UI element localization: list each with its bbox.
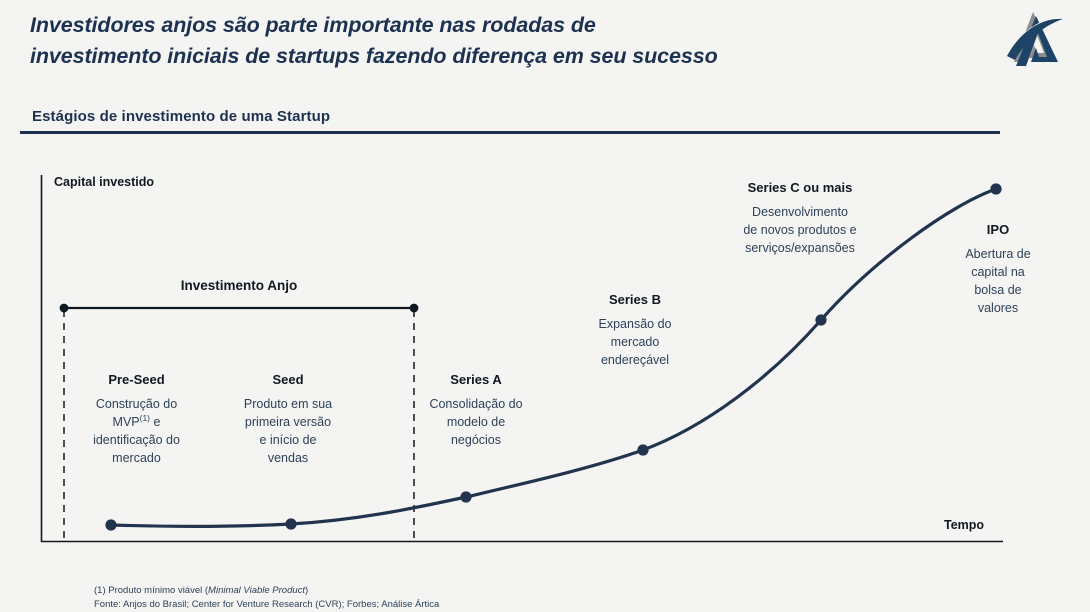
- stage-series-a-description: Consolidação do modelo de negócios: [402, 395, 550, 449]
- point-series-c: [815, 314, 826, 325]
- artica-logo: [1002, 6, 1066, 74]
- section-header: Estágios de investimento de uma Startup: [20, 108, 1000, 134]
- stage-pre-seed-title: Pre-Seed: [64, 372, 209, 387]
- page-title: Investidores anjos são parte importante …: [30, 10, 960, 71]
- footnote-marker: (1): [140, 413, 150, 423]
- stage-series-a-title: Series A: [402, 372, 550, 387]
- angel-investment-label: Investimento Anjo: [64, 278, 414, 293]
- point-series-a: [460, 491, 471, 502]
- stage-pre-seed-description: Construção do MVP(1) e identificação do …: [64, 395, 209, 468]
- stage-ipo-description: Abertura de capital na bolsa de valores: [938, 245, 1058, 318]
- x-axis-label: Tempo: [944, 518, 984, 534]
- section-divider: [20, 131, 1000, 134]
- stage-pre-seed: Pre-Seed Construção do MVP(1) e identifi…: [64, 372, 209, 468]
- stage-seed-title: Seed: [218, 372, 358, 387]
- point-series-b: [637, 444, 648, 455]
- point-seed: [285, 518, 296, 529]
- stage-series-b: Series B Expansão do mercado endereçável: [560, 292, 710, 369]
- footnote-mvp-suffix: ): [305, 585, 308, 596]
- stage-seed: Seed Produto em sua primeira versão e in…: [218, 372, 358, 468]
- y-axis-label: Capital investido: [54, 175, 154, 191]
- stage-seed-description: Produto em sua primeira versão e início …: [218, 395, 358, 468]
- point-pre-seed: [105, 519, 116, 530]
- stage-series-c: Series C ou mais Desenvolvimento de novo…: [715, 180, 885, 257]
- footnote-source: Fonte: Anjos do Brasil; Center for Ventu…: [94, 598, 439, 612]
- section-title: Estágios de investimento de uma Startup: [20, 108, 1000, 125]
- chart-canvas: [0, 150, 1090, 560]
- stage-series-a: Series A Consolidação do modelo de negóc…: [402, 372, 550, 449]
- investment-stages-chart: Capital investido Tempo Investimento Anj…: [0, 150, 1090, 560]
- slide-header: Investidores anjos são parte importante …: [0, 0, 1090, 92]
- stage-series-b-description: Expansão do mercado endereçável: [560, 315, 710, 369]
- stage-ipo-title: IPO: [938, 222, 1058, 237]
- footnotes: (1) Produto mínimo viável (Minimal Viabl…: [94, 584, 439, 612]
- stage-series-b-title: Series B: [560, 292, 710, 307]
- footnote-mvp-italic: Minimal Viable Product: [208, 585, 305, 596]
- point-ipo: [990, 183, 1001, 194]
- footnote-mvp: (1) Produto mínimo viável (Minimal Viabl…: [94, 584, 439, 598]
- stage-series-c-title: Series C ou mais: [715, 180, 885, 195]
- stage-series-c-description: Desenvolvimento de novos produtos e serv…: [715, 203, 885, 257]
- footnote-mvp-prefix: (1) Produto mínimo viável (: [94, 585, 208, 596]
- stage-pre-seed-desc-a: Construção do MVP: [96, 397, 177, 429]
- stage-ipo: IPO Abertura de capital na bolsa de valo…: [938, 222, 1058, 318]
